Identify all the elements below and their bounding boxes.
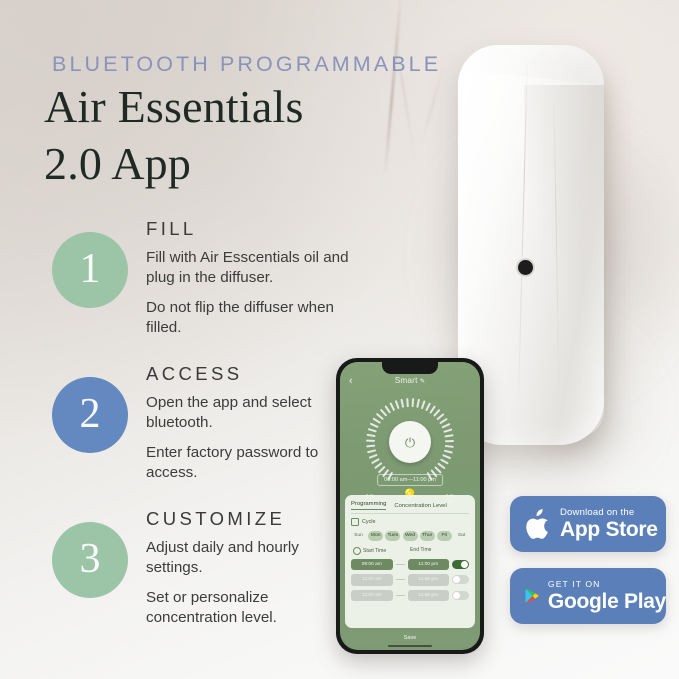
dial-tick <box>376 413 384 420</box>
schedule-row: 09:00 am 11:00 pm <box>351 559 469 570</box>
page-title: Air Essentials 2.0 App <box>44 78 304 192</box>
step-paragraph: Adjust daily and hourly settings. <box>146 538 356 577</box>
step-content: ACCESS Open the app and select bluetooth… <box>146 363 356 482</box>
step-paragraph: Enter factory password to access. <box>146 443 356 482</box>
cycle-toggle[interactable]: Cycle <box>351 518 469 526</box>
check-circle-icon <box>353 547 361 555</box>
app-navbar: ‹ Smart✎ <box>340 374 480 390</box>
start-time-value[interactable]: 12:00 am <box>351 574 393 585</box>
dial-tick <box>445 445 454 448</box>
tab-programming[interactable]: Programming <box>351 501 386 510</box>
dial-tick <box>443 428 452 432</box>
schedule-row: 12:00 am 11:59 pm <box>351 574 469 585</box>
title-line-1: Air Essentials <box>44 81 304 132</box>
cycle-label: Cycle <box>362 519 375 525</box>
step-number: 3 <box>80 538 101 580</box>
start-time-header: Start Time <box>353 547 410 555</box>
end-time-value[interactable]: 11:59 pm <box>408 574 450 585</box>
day-pill-thur[interactable]: Thur <box>420 531 435 541</box>
row-connector <box>396 595 405 596</box>
step-number-badge: 1 <box>52 232 128 308</box>
dial-tick <box>369 454 378 459</box>
app-store-small-label: Download on the <box>560 508 658 518</box>
dial-tick <box>421 400 425 409</box>
power-icon: ⏻ <box>405 436 415 449</box>
row-toggle[interactable] <box>452 560 469 569</box>
google-play-text: GET IT ON Google Play <box>548 580 666 612</box>
dial-tick <box>366 440 375 442</box>
row-connector <box>396 579 405 580</box>
google-play-big-label: Google Play <box>548 591 666 612</box>
phone-mockup: ‹ Smart✎ ⏻ 09:00 am—11:00 pm 0 % 0 0 % 0 <box>336 358 484 654</box>
dial-tick <box>444 434 453 437</box>
dial-tick <box>440 458 449 464</box>
dial-tick <box>367 450 376 454</box>
end-time-value[interactable]: 11:00 pm <box>408 559 450 570</box>
step-content: FILL Fill with Air Esscentials oil and p… <box>146 218 356 337</box>
infographic-canvas: BLUETOOTH PROGRAMMABLE Air Essentials 2.… <box>0 0 679 679</box>
home-indicator <box>388 645 432 647</box>
row-connector <box>396 564 405 565</box>
dial-tick <box>395 400 399 409</box>
dial-tick <box>370 423 379 428</box>
step-content: CUSTOMIZE Adjust daily and hourly settin… <box>146 508 356 627</box>
dial-tick <box>372 418 380 424</box>
dial-tick <box>416 399 419 408</box>
day-pill-sun[interactable]: Sun <box>351 531 366 541</box>
dial-tick <box>366 445 375 448</box>
dial-tick <box>384 405 390 413</box>
google-play-logo-icon <box>525 581 539 611</box>
google-play-small-label: GET IT ON <box>548 580 666 589</box>
step-paragraph: Set or personalize concentration level. <box>146 588 356 627</box>
title-line-2: 2.0 App <box>44 135 304 192</box>
row-toggle[interactable] <box>452 591 469 600</box>
time-range-display: 09:00 am—11:00 pm <box>377 474 443 486</box>
screen-title-text: Smart <box>395 376 418 385</box>
app-screen-title: Smart✎ <box>340 376 480 385</box>
dial-tick <box>438 462 446 469</box>
step-number: 1 <box>80 248 101 290</box>
dial-tick <box>389 402 394 411</box>
app-screen: ‹ Smart✎ ⏻ 09:00 am—11:00 pm 0 % 0 0 % 0 <box>340 362 480 650</box>
app-store-big-label: App Store <box>560 519 658 540</box>
app-store-text: Download on the App Store <box>560 508 658 541</box>
google-play-badge[interactable]: GET IT ON Google Play <box>510 568 666 624</box>
dial-tick <box>406 398 408 407</box>
pencil-icon[interactable]: ✎ <box>420 378 426 385</box>
panel-tabs: Programming Concentration Level <box>351 501 469 514</box>
day-pill-wed[interactable]: Wed <box>403 531 418 541</box>
phone-notch <box>382 362 438 374</box>
day-selector[interactable]: Sun Mon Tues Wed Thur Fri Sat <box>351 531 469 541</box>
dial-tick <box>400 399 403 408</box>
start-time-value[interactable]: 12:00 am <box>351 590 393 601</box>
dial-tick <box>434 466 442 473</box>
start-time-label: Start Time <box>363 548 386 554</box>
dial-tick <box>442 454 451 459</box>
step-paragraph: Open the app and select bluetooth. <box>146 393 356 432</box>
step-heading: CUSTOMIZE <box>146 508 356 530</box>
dial-tick <box>412 398 414 407</box>
step-paragraph: Fill with Air Esscentials oil and plug i… <box>146 248 356 287</box>
eyebrow-text: BLUETOOTH PROGRAMMABLE <box>52 52 441 77</box>
checkbox-icon[interactable] <box>351 518 359 526</box>
start-time-value[interactable]: 09:00 am <box>351 559 393 570</box>
step-paragraph: Do not flip the diffuser when filled. <box>146 298 356 337</box>
schedule-row: 12:00 am 11:59 pm <box>351 590 469 601</box>
day-pill-fri[interactable]: Fri <box>437 531 452 541</box>
step-number-badge: 3 <box>52 522 128 598</box>
power-button[interactable]: ⏻ <box>389 421 431 463</box>
day-pill-mon[interactable]: Mon <box>368 531 383 541</box>
dial-tick <box>366 434 375 437</box>
step-heading: ACCESS <box>146 363 356 385</box>
dial-tick <box>445 440 454 442</box>
dial-tick <box>444 450 453 454</box>
step-number-badge: 2 <box>52 377 128 453</box>
save-button[interactable]: Save <box>345 631 475 645</box>
step-number: 2 <box>80 393 101 435</box>
day-pill-sat[interactable]: Sat <box>454 531 469 541</box>
sensor-port-icon <box>518 260 533 275</box>
settings-panel: Programming Concentration Level Cycle Su… <box>345 495 475 628</box>
step-heading: FILL <box>146 218 356 240</box>
schedule-headers: Start Time End Time <box>351 547 469 555</box>
tab-concentration-level[interactable]: Concentration Level <box>394 503 446 509</box>
dial-tick <box>368 428 377 432</box>
row-toggle[interactable] <box>452 575 469 584</box>
apple-logo-icon <box>525 509 551 540</box>
dial-tick <box>441 423 450 428</box>
dial-tick <box>380 409 387 417</box>
intensity-dial[interactable]: ⏻ <box>366 398 454 486</box>
end-time-value[interactable]: 11:59 pm <box>408 590 450 601</box>
day-pill-tues[interactable]: Tues <box>385 531 400 541</box>
end-time-header: End Time <box>410 547 467 555</box>
app-store-badge[interactable]: Download on the App Store <box>510 496 666 552</box>
